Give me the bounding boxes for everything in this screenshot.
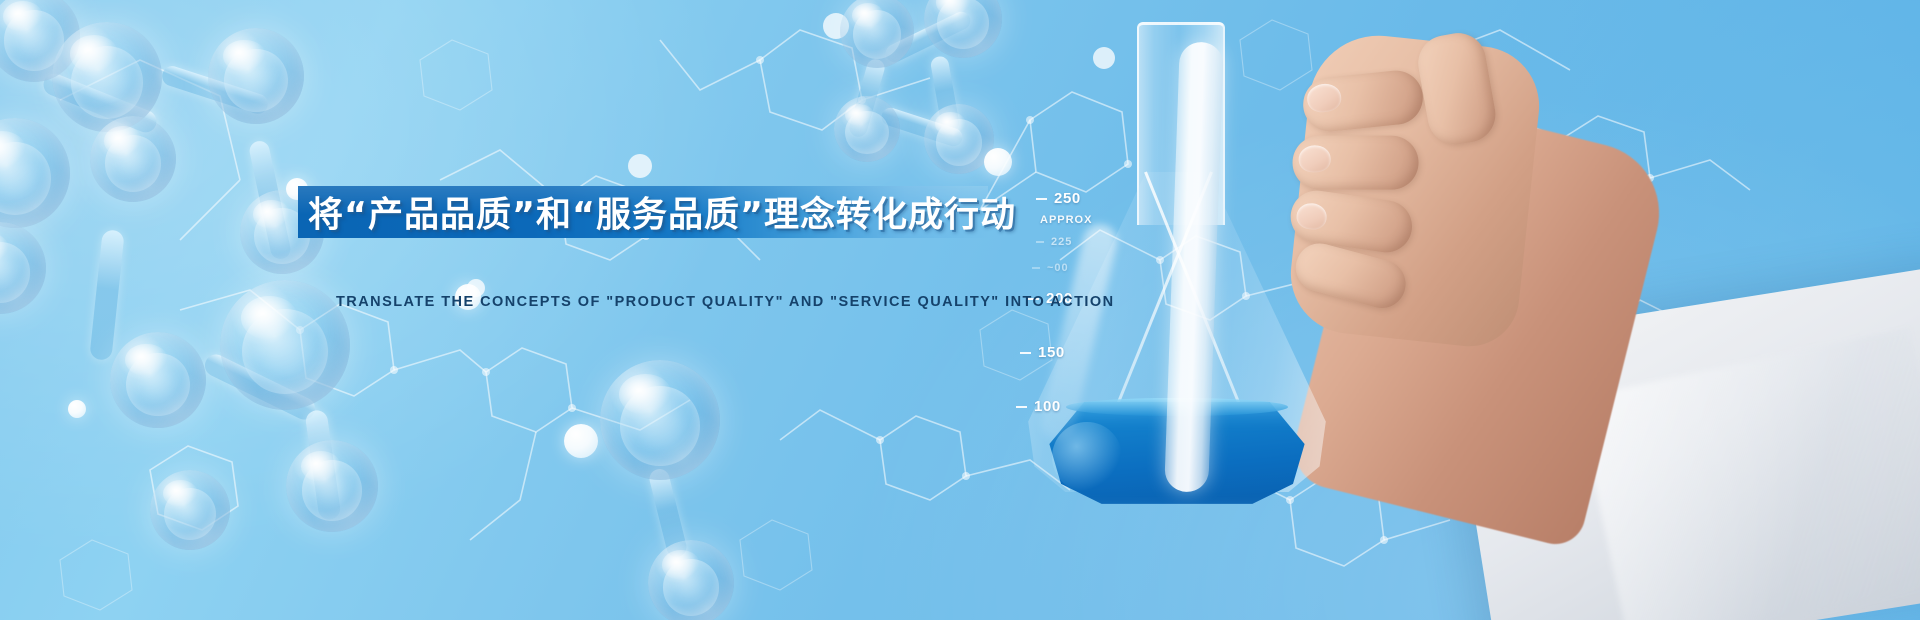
erlenmeyer-flask: 250 APPROX 225 ~00 200 (1022, 22, 1332, 492)
molecule-sphere (220, 280, 350, 410)
molecule-sphere (208, 28, 304, 124)
tick-icon (1016, 406, 1027, 408)
graduation-mark: 150 (1020, 344, 1065, 361)
graduation-label: 100 (1034, 398, 1061, 415)
tick-icon (1032, 267, 1040, 269)
tick-icon (1036, 241, 1044, 243)
molecule-sphere (834, 96, 900, 162)
molecule-sphere (52, 22, 162, 132)
molecule-sphere (286, 440, 378, 532)
molecule-sphere (648, 540, 734, 620)
scientist-holding-flask-photo: 250 APPROX 225 ~00 200 (1000, 0, 1920, 620)
graduation-label: 150 (1038, 344, 1065, 361)
bubble-accent (68, 400, 86, 418)
molecule-sphere (600, 360, 720, 480)
banner-title: 将“产品品质”和“服务品质”理念转化成行动 (308, 187, 1016, 238)
graduation-mark: 100 (1016, 398, 1061, 415)
banner-hero: 250 APPROX 225 ~00 200 (0, 0, 1920, 620)
graduation-mark: ~00 (1032, 262, 1069, 274)
tick-icon (1020, 352, 1031, 354)
molecule-sphere (90, 116, 176, 202)
bubble-accent (564, 424, 598, 458)
molecule-sphere (110, 332, 206, 428)
banner-subtitle: TRANSLATE THE CONCEPTS OF "PRODUCT QUALI… (336, 294, 1115, 310)
headline-block: 将“产品品质”和“服务品质”理念转化成行动 TRANSLATE THE CONC… (298, 186, 1198, 238)
molecule-sphere (150, 470, 230, 550)
graduation-label: ~00 (1047, 262, 1069, 274)
